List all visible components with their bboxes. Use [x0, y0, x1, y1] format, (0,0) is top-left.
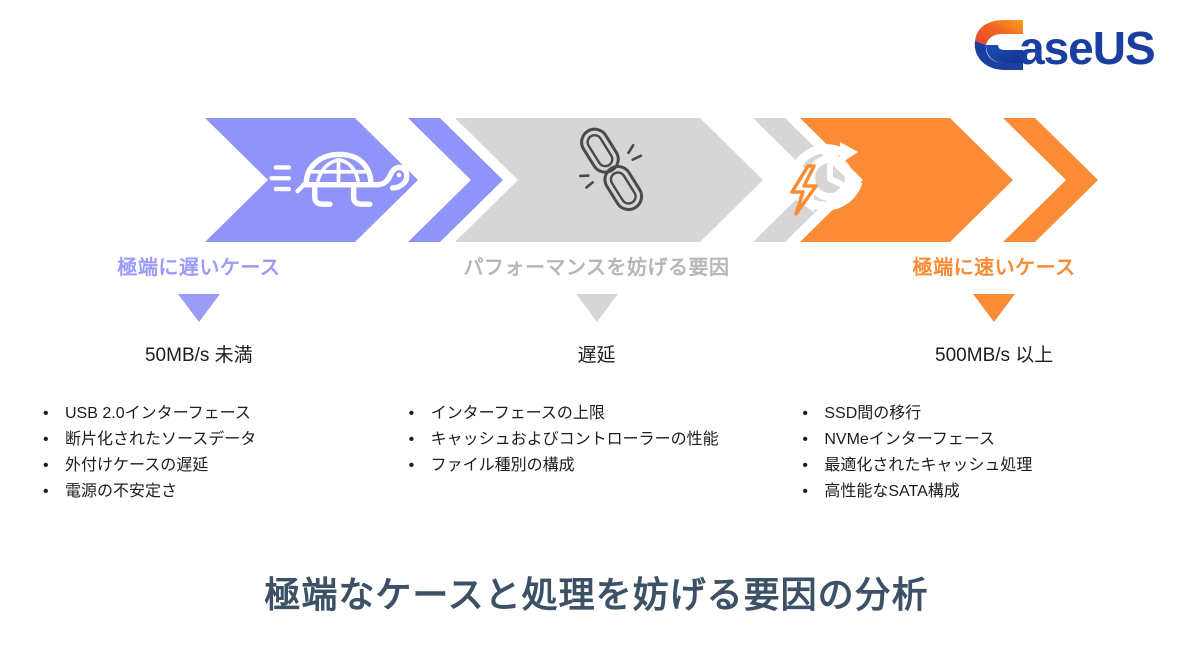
bullet-label: インターフェースの上限	[431, 401, 807, 427]
bullet-marker: •	[802, 479, 824, 505]
column-bottleneck: パフォーマンスを妨げる要因 遅延 • インターフェースの上限 • キャッシュおよ…	[398, 256, 796, 556]
list-item: • SSD間の移行	[802, 401, 1193, 427]
bullet-label: キャッシュおよびコントローラーの性能	[431, 427, 807, 453]
column-slow: 極端に遅いケース 50MB/s 未満 • USB 2.0インターフェース • 断…	[0, 256, 398, 556]
column-fast: 極端に速いケース 500MB/s 以上 • SSD間の移行 • NVMeインター…	[795, 256, 1193, 556]
list-item: • 電源の不安定さ	[43, 479, 441, 505]
column-slow-heading: 極端に遅いケース	[117, 256, 280, 280]
list-item: • 高性能なSATA構成	[802, 479, 1193, 505]
bullet-label: NVMeインターフェース	[824, 427, 1193, 453]
list-item: • キャッシュおよびコントローラーの性能	[409, 427, 807, 453]
column-fast-value: 500MB/s 以上	[935, 340, 1053, 367]
bullet-label: 最適化されたキャッシュ処理	[824, 453, 1193, 479]
list-item: • インターフェースの上限	[409, 401, 807, 427]
column-fast-marker-triangle	[973, 294, 1015, 322]
bullet-label: 高性能なSATA構成	[824, 479, 1193, 505]
chevron-band-svg	[0, 110, 1193, 250]
list-item: • ファイル種別の構成	[409, 453, 807, 479]
list-item: • 最適化されたキャッシュ処理	[802, 453, 1193, 479]
bullet-marker: •	[802, 401, 824, 427]
easeus-logo-icon: aseUS	[963, 14, 1173, 76]
bullet-label: 電源の不安定さ	[65, 479, 441, 505]
bullet-label: ファイル種別の構成	[431, 453, 807, 479]
column-bottleneck-heading: パフォーマンスを妨げる要因	[463, 256, 729, 280]
easeus-logo: aseUS	[963, 14, 1173, 76]
column-fast-bullet-list: • SSD間の移行 • NVMeインターフェース • 最適化されたキャッシュ処理…	[778, 401, 1193, 505]
list-item: • NVMeインターフェース	[802, 427, 1193, 453]
bullet-marker: •	[43, 401, 65, 427]
column-bottleneck-marker-triangle	[576, 294, 618, 322]
bullet-marker: •	[43, 453, 65, 479]
bullet-marker: •	[802, 427, 824, 453]
column-fast-heading: 極端に速いケース	[913, 256, 1076, 280]
column-bottleneck-bullet-list: • インターフェースの上限 • キャッシュおよびコントローラーの性能 • ファイ…	[343, 401, 851, 479]
chevron-band	[0, 110, 1193, 250]
bullet-marker: •	[802, 453, 824, 479]
svg-text:aseUS: aseUS	[1019, 22, 1155, 74]
bullet-marker: •	[43, 479, 65, 505]
bullet-marker: •	[409, 453, 431, 479]
bullet-marker: •	[409, 401, 431, 427]
columns-region: 極端に遅いケース 50MB/s 未満 • USB 2.0インターフェース • 断…	[0, 256, 1193, 556]
bullet-marker: •	[43, 427, 65, 453]
bullet-label: SSD間の移行	[824, 401, 1193, 427]
page-title: 極端なケースと処理を妨げる要因の分析	[0, 566, 1193, 618]
bullet-marker: •	[409, 427, 431, 453]
column-bottleneck-value: 遅延	[578, 340, 616, 367]
column-slow-value: 50MB/s 未満	[145, 340, 253, 367]
chevron-fast-arrow	[1003, 118, 1098, 242]
column-slow-marker-triangle	[178, 294, 220, 322]
